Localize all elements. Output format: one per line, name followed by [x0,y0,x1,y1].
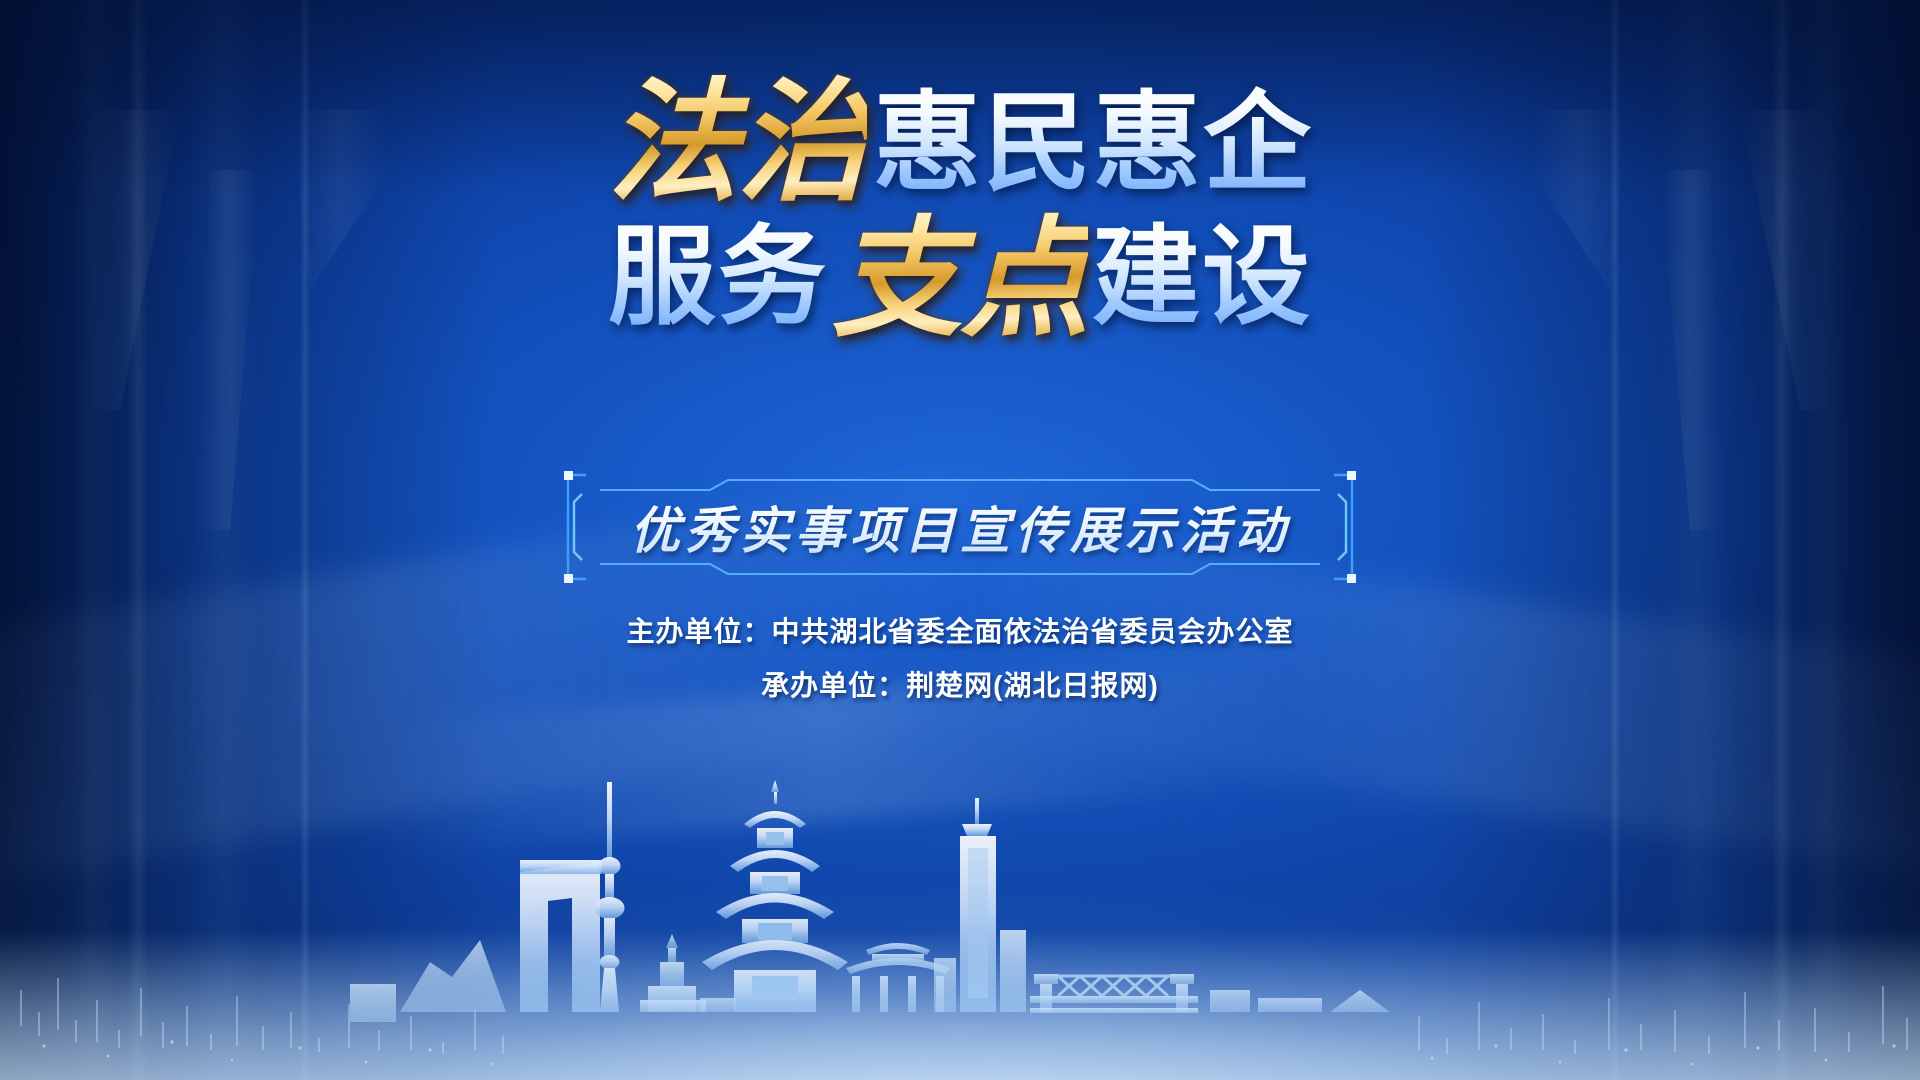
headline-line-2: 服务支点建设 [0,216,1920,346]
organizer-line-undertaker: 承办单位：荆楚网(湖北日报网) [0,672,1920,700]
headline-gold-zhidian: 支点 [832,209,1088,353]
headline-blue-huiminhuiqi: 惠民惠企 [873,82,1313,203]
organizer-block: 主办单位：中共湖北省委全面依法治省委员会办公室 承办单位：荆楚网(湖北日报网) [0,618,1920,700]
headline-blue-jianshe: 建设 [1092,216,1312,337]
subtitle-frame: 优秀实事项目宣传展示活动 [560,468,1360,586]
headline-line-1: 法治惠民惠企 [0,78,1920,210]
subtitle-text: 优秀实事项目宣传展示活动 [560,468,1360,586]
headline-block: 法治惠民惠企 服务支点建设 [0,78,1920,346]
organizer-line-host: 主办单位：中共湖北省委全面依法治省委员会办公室 [0,618,1920,646]
headline-gold-fazhi: 法治 [607,70,867,217]
headline-blue-fuwu: 服务 [608,216,828,337]
promo-banner: 法治惠民惠企 服务支点建设 [0,0,1920,1080]
